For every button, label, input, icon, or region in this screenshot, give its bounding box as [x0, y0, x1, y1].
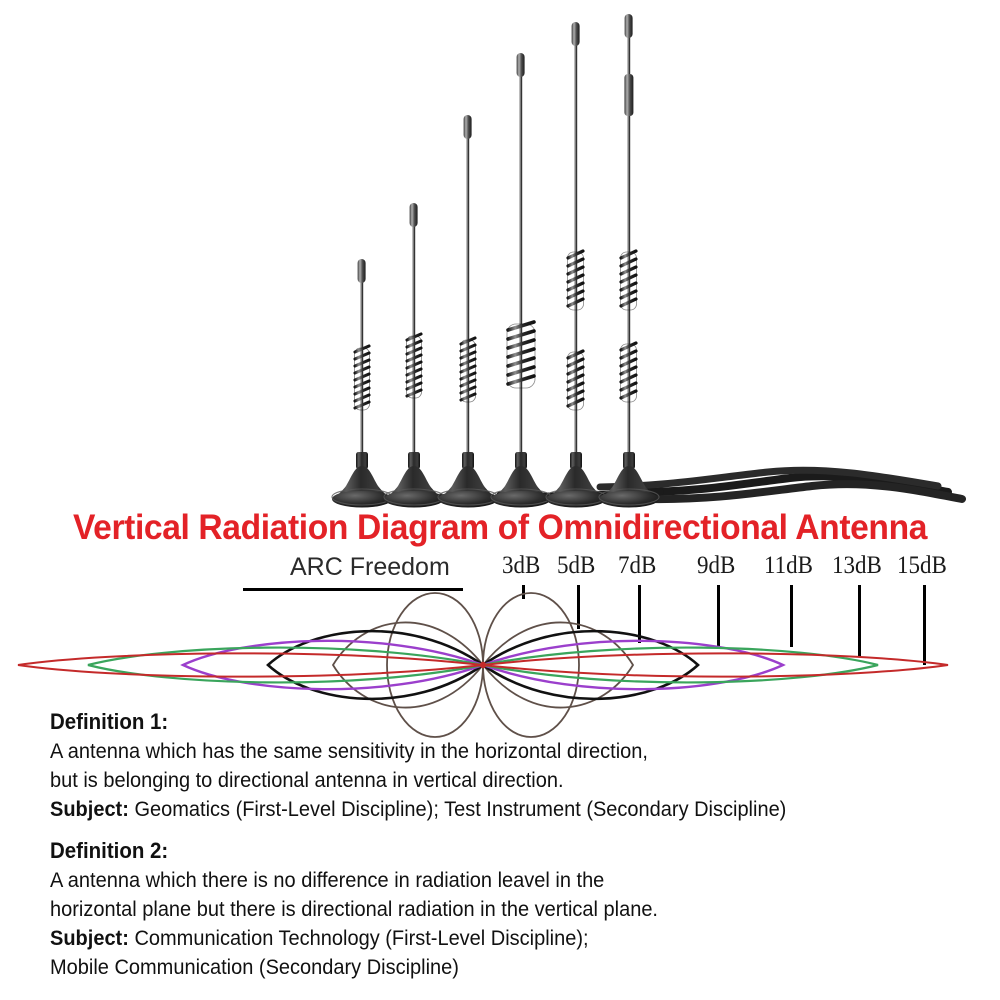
db-label-5db: 5dB [557, 552, 595, 580]
antenna-5 [546, 22, 606, 508]
definitions-block: Definition 1: A antenna which has the sa… [50, 706, 990, 982]
pattern-origin [480, 662, 486, 668]
definition-1-line-1: A antenna which has the same sensitivity… [50, 737, 924, 766]
db-label-13db: 13dB [832, 552, 882, 580]
db-label-7db: 7dB [618, 552, 656, 580]
definition-1-subject: Subject: Geomatics (First-Level Discipli… [50, 795, 924, 824]
subject-label: Subject: [50, 797, 129, 821]
definition-2-subject-cont: Mobile Communication (Secondary Discipli… [50, 953, 924, 982]
definition-2-line-1: A antenna which there is no difference i… [50, 866, 924, 895]
subject-label: Subject: [50, 926, 129, 950]
brand-label: ARC Freedom [290, 553, 450, 582]
poster: Vertical Radiation Diagram of Omnidirect… [0, 0, 1000, 1000]
db-label-11db: 11dB [764, 552, 813, 580]
antenna-product-photo [0, 0, 1000, 520]
antenna-4 [491, 53, 551, 508]
db-label-3db: 3dB [502, 552, 540, 580]
antenna-2 [384, 203, 444, 508]
definition-gap [50, 824, 990, 835]
db-label-15db: 15dB [897, 552, 947, 580]
antenna-1 [332, 259, 392, 508]
definition-heading-1: Definition 1: [50, 706, 924, 737]
antenna-6 [599, 14, 659, 508]
definition-1-line-2: but is belonging to directional antenna … [50, 766, 924, 795]
db-label-9db: 9dB [697, 552, 735, 580]
antenna-3 [438, 115, 498, 508]
definition-2-subject: Subject: Communication Technology (First… [50, 924, 924, 953]
definition-heading-2: Definition 2: [50, 835, 924, 866]
page-title: Vertical Radiation Diagram of Omnidirect… [20, 508, 980, 548]
definition-2-line-2: horizontal plane but there is directiona… [50, 895, 924, 924]
